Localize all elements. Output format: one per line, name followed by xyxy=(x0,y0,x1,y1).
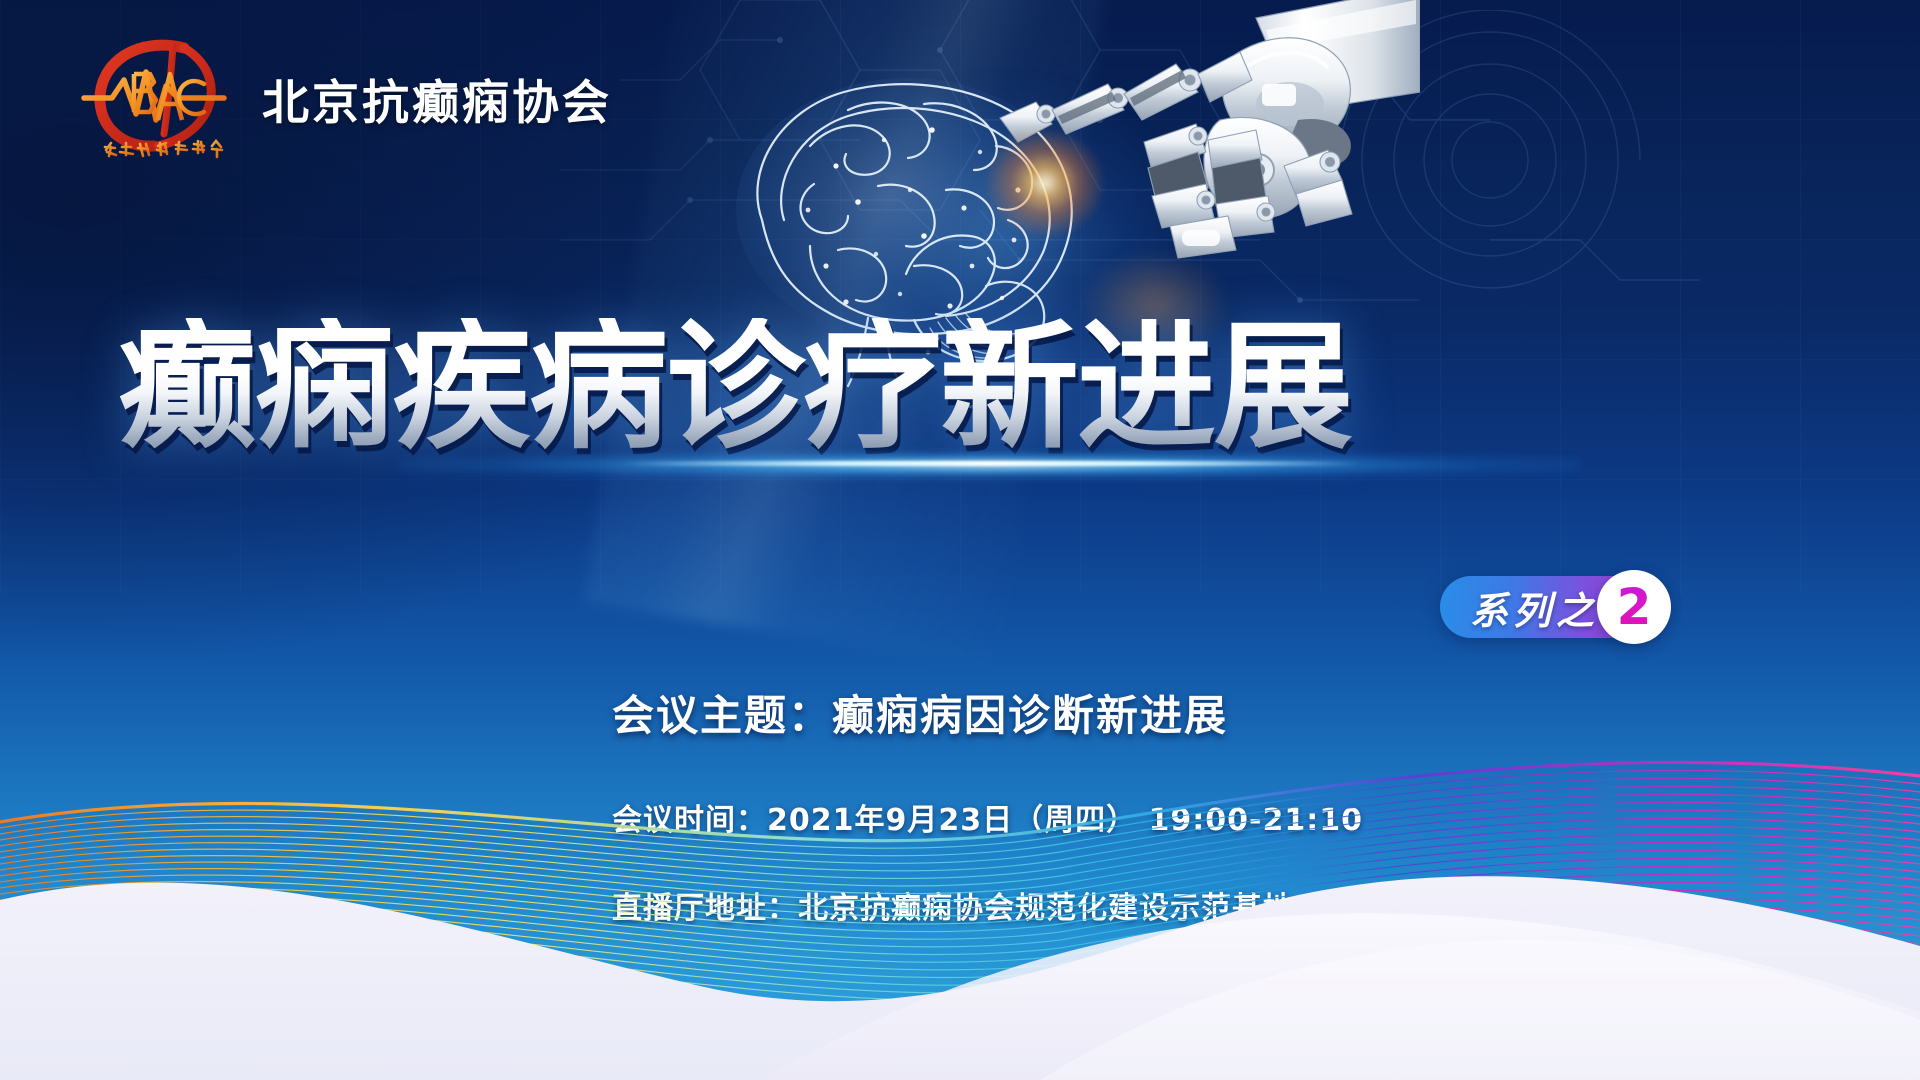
association-logo xyxy=(72,28,240,168)
poster-header: 北京抗癫痫协会 xyxy=(72,28,612,168)
conference-topic: 会议主题：癫痫病因诊断新进展 xyxy=(612,682,1712,743)
conference-address: 直播厅地址：北京抗癫痫协会规范化建设示范基地 xyxy=(612,883,1712,927)
series-badge: 系列之 2 xyxy=(1440,576,1663,638)
series-badge-label: 系列之 xyxy=(1470,580,1599,635)
organization-name: 北京抗癫痫协会 xyxy=(262,64,612,133)
series-number: 2 xyxy=(1617,582,1652,632)
conference-time: 会议时间：2021年9月23日（周四） 19:00-21:10 xyxy=(612,795,1712,839)
main-title-block: 癫痫疾病诊疗新进展 xyxy=(0,318,1920,457)
association-logo-icon xyxy=(72,28,240,168)
series-number-circle: 2 xyxy=(1597,570,1671,644)
poster-canvas: 北京抗癫痫协会 xyxy=(0,0,1920,1080)
conference-info-block: 会议主题：癫痫病因诊断新进展 会议时间：2021年9月23日（周四） 19:00… xyxy=(612,682,1712,971)
page-title: 癫痫疾病诊疗新进展 xyxy=(0,318,1920,457)
